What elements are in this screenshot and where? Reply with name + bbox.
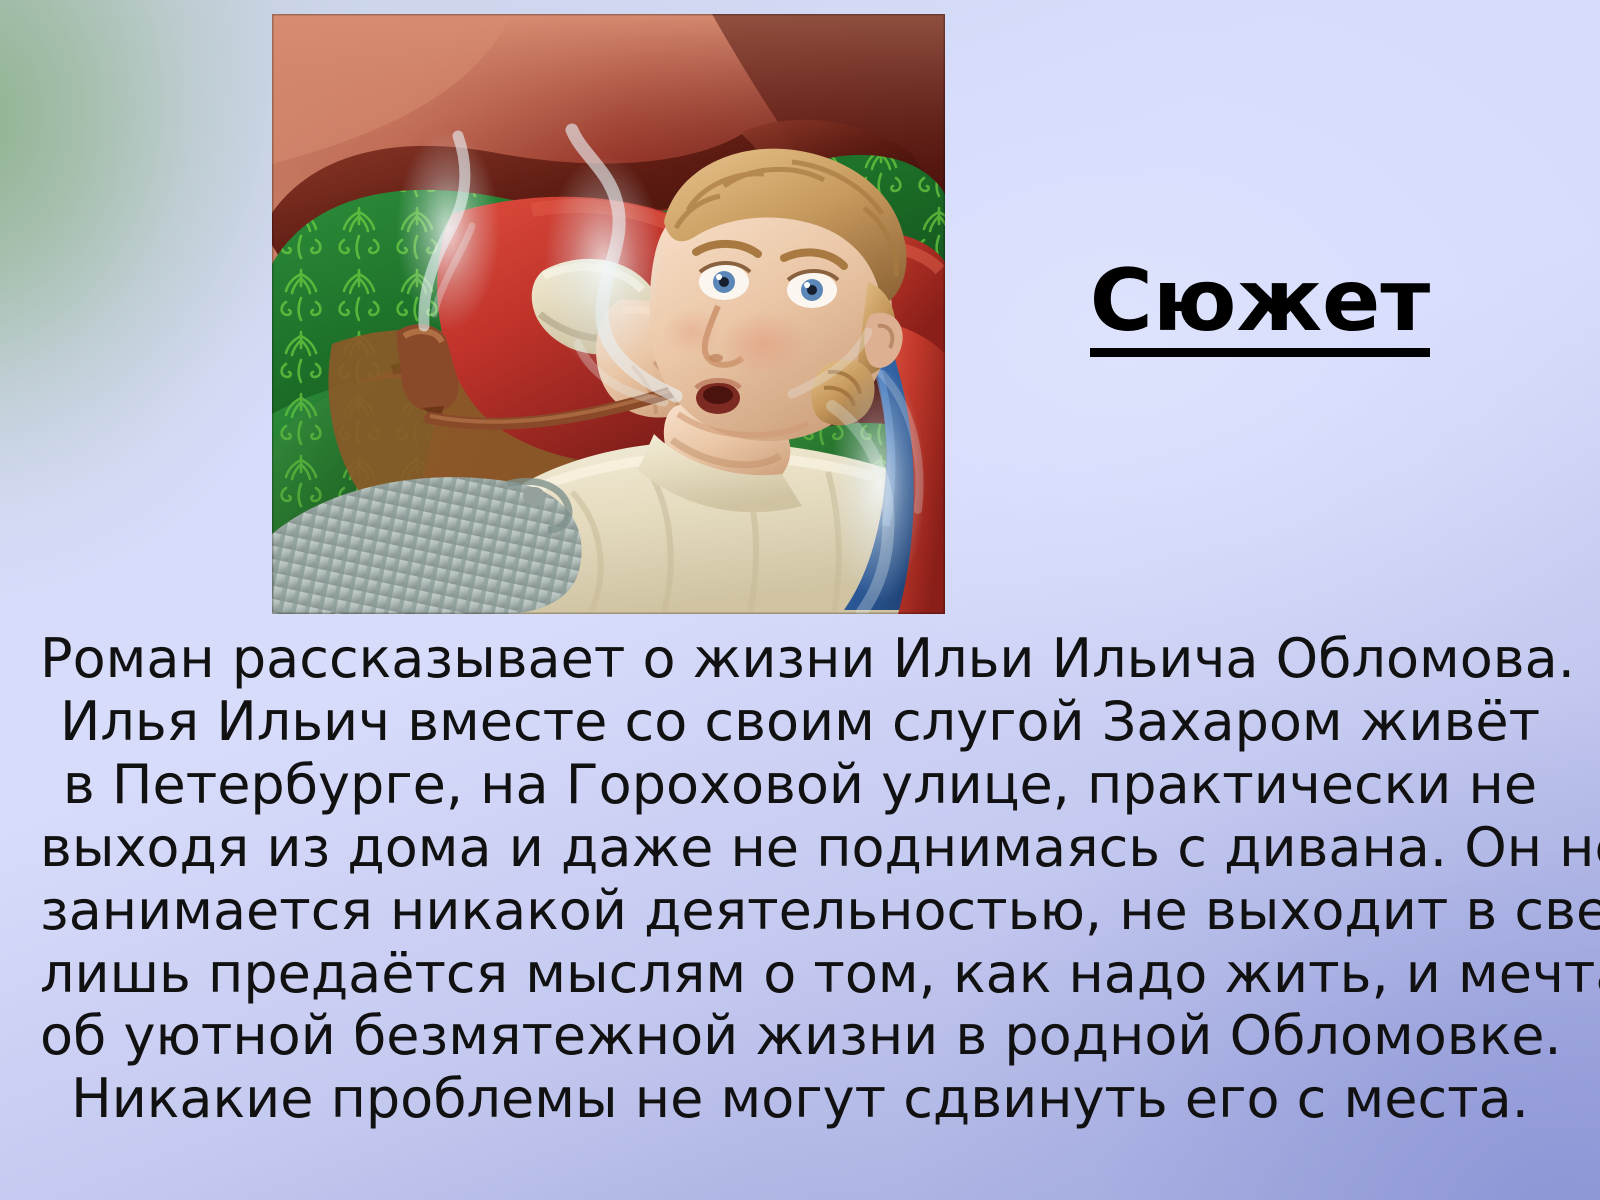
- smoke-cloud-right: [830, 364, 926, 604]
- presentation-slide: Сюжет Роман рассказывает о жизни Ильи Ил…: [0, 0, 1600, 1200]
- body-line: в Петербурге, на Гороховой улице, практи…: [40, 754, 1560, 817]
- title-block: Сюжет: [960, 258, 1560, 357]
- eye-glint-left: [716, 274, 722, 280]
- page-title: Сюжет: [1090, 258, 1430, 357]
- body-line: Роман рассказывает о жизни Ильи Ильича О…: [40, 628, 1560, 691]
- body-line: об уютной безмятежной жизни в родной Обл…: [40, 1005, 1560, 1068]
- oblomov-on-sofa-illustration: [272, 14, 945, 614]
- smoke-cloud-left: [396, 130, 500, 330]
- body-text-block: Роман рассказывает о жизни Ильи Ильича О…: [40, 628, 1560, 1131]
- cheek-blush: [720, 312, 808, 376]
- eye-glint-right: [804, 282, 810, 288]
- trouser-button: [523, 487, 545, 505]
- cheek-blush-left: [662, 308, 722, 356]
- nostril: [709, 354, 723, 362]
- body-line: выходя из дома и даже не поднимаясь с ди…: [40, 817, 1560, 880]
- body-line: Никакие проблемы не могут сдвинуть его с…: [40, 1068, 1560, 1131]
- body-line: лишь предаётся мыслям о том, как надо жи…: [40, 943, 1560, 1006]
- mouth-inner: [703, 386, 733, 404]
- smoke-cloud-center: [544, 154, 664, 374]
- oblomov-illustration-svg: [272, 14, 945, 614]
- body-line: Илья Ильич вместе со своим слугой Захаро…: [40, 691, 1560, 754]
- body-line: занимается никакой деятельностью, не вых…: [40, 880, 1560, 943]
